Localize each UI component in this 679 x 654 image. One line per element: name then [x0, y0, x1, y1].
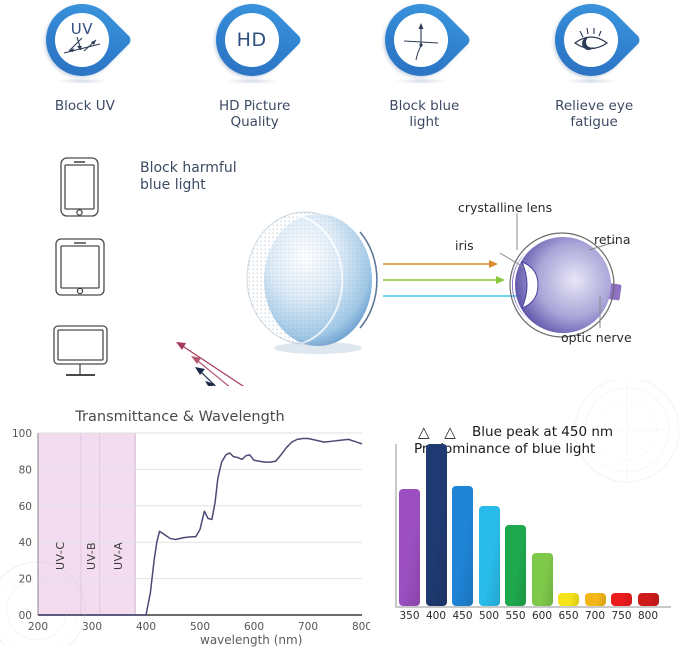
peak-triangle-markers: △ △ [418, 423, 461, 441]
line-chart-ytick: 100 [12, 428, 32, 440]
arrow-deflect-glyph [394, 13, 448, 67]
bar-650 [558, 593, 579, 606]
bar-tick-350: 350 [396, 610, 424, 622]
bar-chart-x-axis [396, 606, 671, 608]
eye-label-crystalline-lens: crystalline lens [458, 200, 552, 215]
line-chart-xtick: 200 [28, 621, 48, 633]
tablet-icon [56, 239, 104, 295]
droplet-inner [394, 13, 448, 67]
bar-550 [505, 525, 526, 606]
uv-shield-icon: UV [46, 4, 124, 90]
feature-label: Block bluelight [389, 98, 459, 130]
bar-350 [399, 489, 420, 606]
blue-light-spectrum-bar-chart: △ △ Blue peak at 450 nm Predominance of … [382, 420, 679, 654]
bar-400 [426, 444, 447, 606]
line-chart-xtick: 500 [190, 621, 210, 633]
line-chart-ytick: 20 [19, 574, 32, 586]
smartphone-icon [61, 158, 98, 216]
relieve-eye-icon [555, 4, 633, 90]
bar-500 [479, 506, 500, 606]
bar-tick-550: 550 [502, 610, 530, 622]
droplet-inner [564, 13, 618, 67]
eye-label-retina: retina [594, 232, 631, 247]
line-chart-title: Transmittance & Wavelength [0, 409, 360, 425]
transmittance-line-chart: Transmittance & Wavelength 0020406080100… [0, 405, 370, 654]
uv-band-label-uv-c: UV-C [54, 541, 67, 570]
bar-tick-650: 650 [555, 610, 583, 622]
bar-chart-bars [396, 444, 671, 606]
line-chart-ytick: 40 [19, 537, 32, 549]
droplet-shadow [395, 78, 447, 84]
uv-band-label-uv-a: UV-A [112, 542, 125, 570]
bar-tick-450: 450 [449, 610, 477, 622]
line-chart-ytick: 60 [19, 501, 32, 513]
eye-lashes-glyph [564, 13, 618, 67]
droplet-shadow [56, 78, 108, 84]
uv-band-uv-b [81, 433, 100, 615]
feature-block-uv: UV Block UV [0, 0, 170, 140]
bar-600 [532, 553, 553, 606]
feature-hd-picture-quality: HD HD PictureQuality [170, 0, 340, 140]
feature-block-blue-light: Block bluelight [340, 0, 510, 140]
line-chart-xtick: 700 [298, 621, 318, 633]
line-chart-plot: 0020406080100200300400500600700800 [0, 427, 370, 652]
bar-tick-700: 700 [581, 610, 609, 622]
blue-light-lens [247, 212, 377, 354]
blue-light-illustration: Block harmfulblue light [0, 138, 679, 386]
bar-tick-600: 600 [528, 610, 556, 622]
blocked-light-rays [128, 342, 258, 386]
line-chart-ytick: 80 [19, 464, 32, 476]
peak-annotation-line1: Blue peak at 450 nm [472, 424, 613, 440]
bar-tick-400: 400 [422, 610, 450, 622]
bar-750 [611, 593, 632, 606]
block-blue-light-icon [385, 4, 463, 90]
feature-badges-row: UV Block UV HD HD Picture [0, 0, 679, 140]
uv-band-uv-c [38, 433, 81, 615]
uv-band-uv-a [100, 433, 135, 615]
feature-label: Relieve eyefatigue [555, 98, 633, 130]
droplet-shadow [226, 78, 278, 84]
bar-tick-800: 800 [634, 610, 662, 622]
hd-glyph-text: HD [225, 29, 279, 51]
uv-rays-glyph [55, 13, 109, 67]
bar-800 [638, 593, 659, 606]
droplet-inner: HD [225, 13, 279, 67]
bar-tick-750: 750 [608, 610, 636, 622]
droplet-shadow [565, 78, 617, 84]
illustration-svg [0, 138, 679, 386]
hd-quality-icon: HD [216, 4, 294, 90]
line-chart-xtick: 600 [244, 621, 264, 633]
eye-label-iris: iris [455, 238, 474, 253]
monitor-icon [54, 326, 107, 375]
line-chart-xtick: 800 [352, 621, 370, 633]
bar-450 [452, 486, 473, 606]
bar-700 [585, 593, 606, 606]
feature-relieve-eye-fatigue: Relieve eyefatigue [509, 0, 679, 140]
feature-label: HD PictureQuality [219, 98, 290, 130]
line-chart-xtick: 300 [82, 621, 102, 633]
line-chart-xtick: 400 [136, 621, 156, 633]
bar-tick-500: 500 [475, 610, 503, 622]
eye-label-optic-nerve: optic nerve [561, 330, 632, 345]
droplet-inner: UV [55, 13, 109, 67]
feature-label: Block UV [55, 98, 115, 114]
line-chart-xlabel: wavelength (nm) [200, 633, 302, 647]
uv-band-label-uv-b: UV-B [85, 542, 98, 570]
